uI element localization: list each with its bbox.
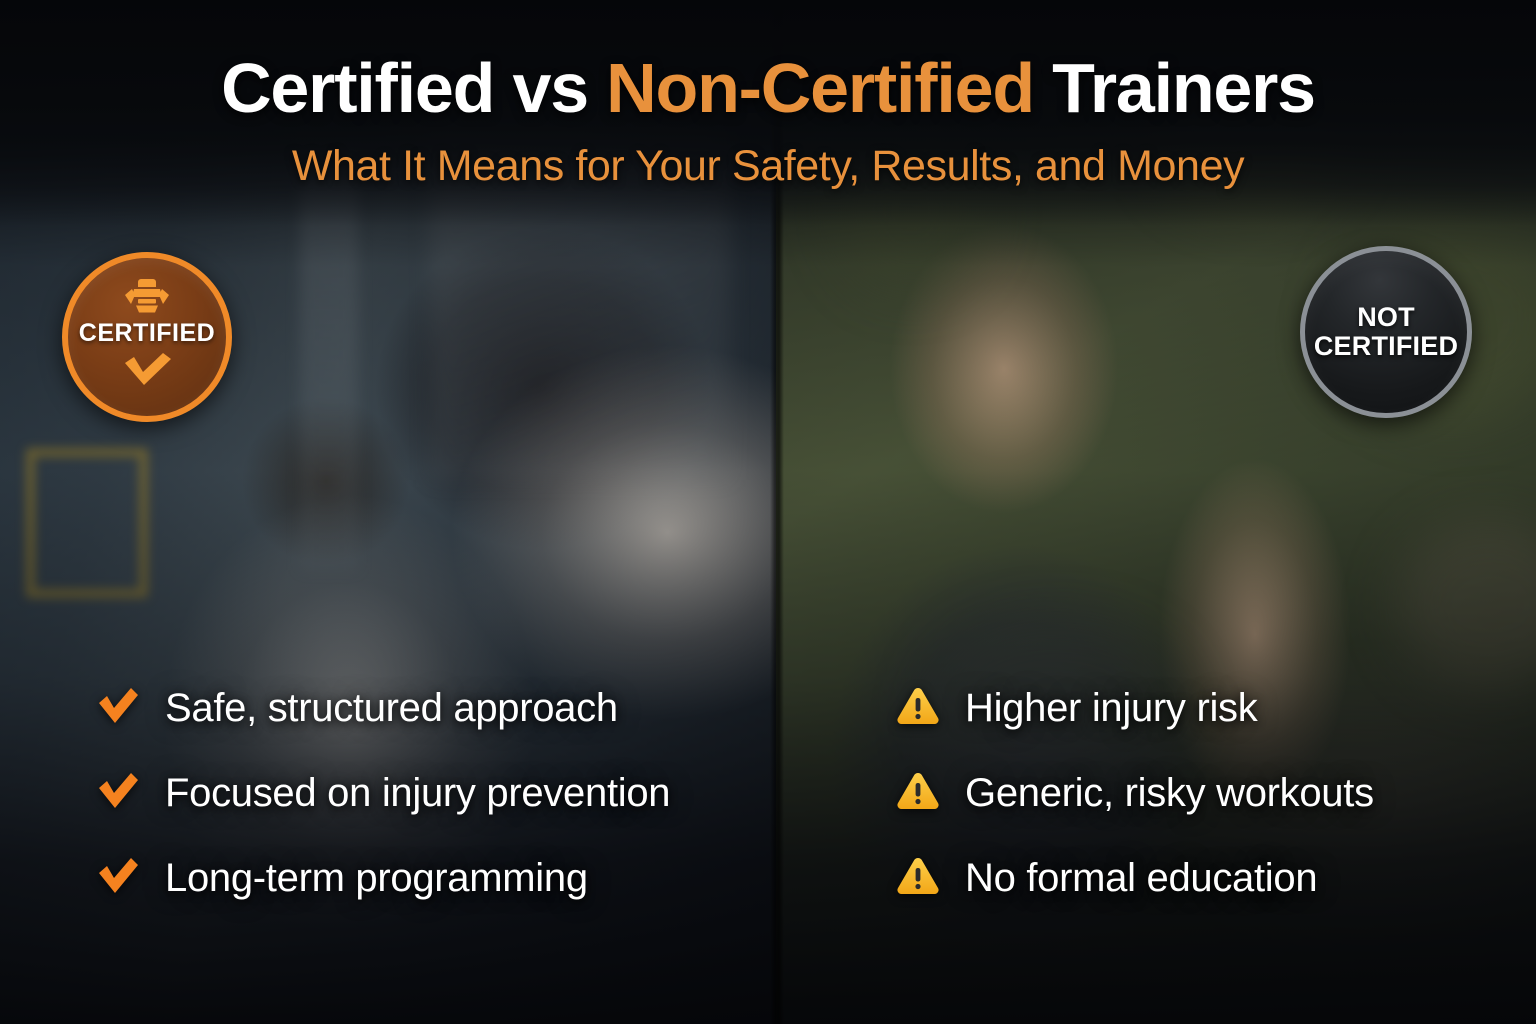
check-icon (95, 768, 141, 819)
page-subtitle: What It Means for Your Safety, Results, … (292, 142, 1244, 191)
check-icon (119, 350, 175, 393)
award-rosette-icon (121, 277, 173, 320)
non-certified-risks-list: Higher injury risk Generic, risky workou… (895, 672, 1455, 914)
warning-triangle-icon (895, 769, 941, 818)
certified-badge: CERTIFIED (62, 252, 232, 422)
list-item-label: Safe, structured approach (165, 686, 618, 731)
title-accent-segment: Non-Certified (606, 49, 1034, 127)
header: Certified vs Non-Certified Trainers What… (0, 0, 1536, 226)
list-item: Safe, structured approach (95, 672, 755, 744)
list-item: Long-term programming (95, 842, 755, 914)
not-certified-badge-line1: NOT (1357, 303, 1415, 332)
list-item-label: Long-term programming (165, 856, 588, 901)
title-segment-2: Trainers (1034, 49, 1315, 127)
list-item: Generic, risky workouts (895, 757, 1455, 829)
list-item-label: Higher injury risk (965, 686, 1257, 731)
list-item-label: No formal education (965, 856, 1317, 901)
list-item: Higher injury risk (895, 672, 1455, 744)
list-item-label: Generic, risky workouts (965, 771, 1374, 816)
certified-badge-label: CERTIFIED (79, 321, 215, 346)
not-certified-badge-line2: CERTIFIED (1314, 332, 1458, 361)
not-certified-badge: NOT CERTIFIED (1300, 246, 1472, 418)
warning-triangle-icon (895, 854, 941, 903)
check-icon (95, 853, 141, 904)
page-title: Certified vs Non-Certified Trainers (221, 52, 1315, 126)
infographic-poster: Certified vs Non-Certified Trainers What… (0, 0, 1536, 1024)
list-item: Focused on injury prevention (95, 757, 755, 829)
list-item: No formal education (895, 842, 1455, 914)
check-icon (95, 683, 141, 734)
warning-triangle-icon (895, 684, 941, 733)
title-segment-1: Certified vs (221, 49, 606, 127)
certified-benefits-list: Safe, structured approach Focused on inj… (95, 672, 755, 914)
list-item-label: Focused on injury prevention (165, 771, 670, 816)
